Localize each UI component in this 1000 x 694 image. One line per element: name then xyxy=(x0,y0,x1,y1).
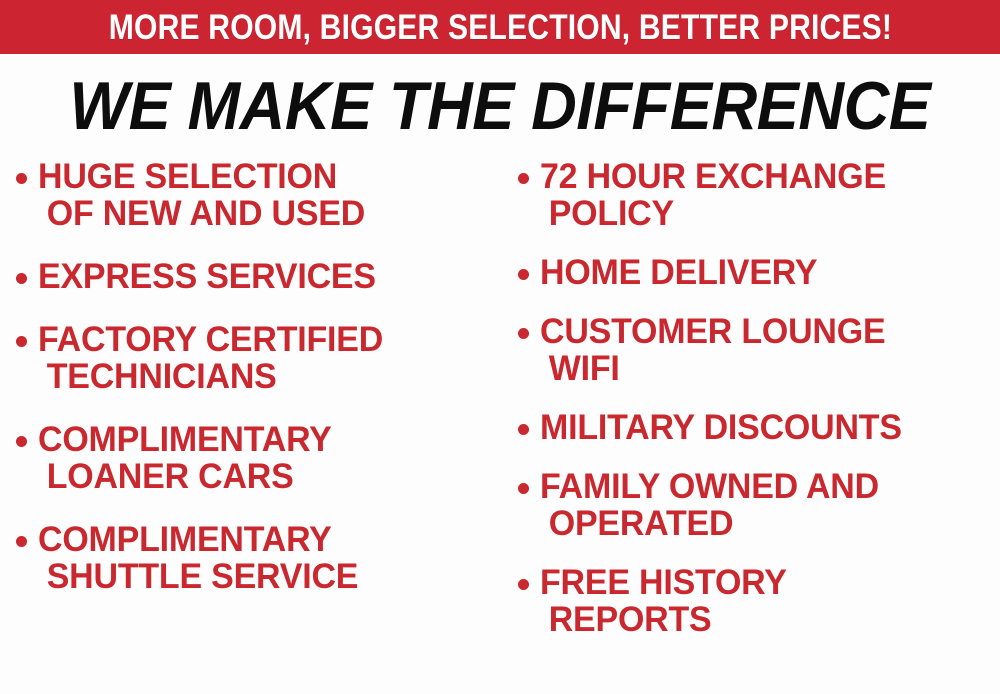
benefit-item: HUGE SELECTIONOF NEW AND USED xyxy=(16,158,496,232)
benefit-label: 72 HOUR EXCHANGEPOLICY xyxy=(540,158,886,232)
benefit-label-line2: REPORTS xyxy=(540,601,787,638)
benefit-item: COMPLIMENTARYLOANER CARS xyxy=(16,421,496,495)
bullet-dot-icon xyxy=(518,579,529,590)
benefit-item: FREE HISTORYREPORTS xyxy=(518,564,1000,638)
bullet-dot-icon xyxy=(518,328,529,339)
headline-area: WE MAKE THE DIFFERENCE xyxy=(0,66,1000,146)
benefit-label-line1: 72 HOUR EXCHANGE xyxy=(540,157,886,196)
benefit-label: COMPLIMENTARYSHUTTLE SERVICE xyxy=(38,521,358,595)
benefit-label: HUGE SELECTIONOF NEW AND USED xyxy=(38,158,365,232)
benefit-label-line1: COMPLIMENTARY xyxy=(38,520,332,559)
benefit-item: COMPLIMENTARYSHUTTLE SERVICE xyxy=(16,521,496,595)
benefit-item: 72 HOUR EXCHANGEPOLICY xyxy=(518,158,1000,232)
benefit-item: FACTORY CERTIFIEDTECHNICIANS xyxy=(16,321,496,395)
benefit-label-line1: FREE HISTORY xyxy=(540,563,787,602)
benefit-label: HOME DELIVERY xyxy=(540,254,817,291)
bullet-dot-icon xyxy=(16,436,27,447)
benefit-label: MILITARY DISCOUNTS xyxy=(540,409,902,446)
benefit-item: FAMILY OWNED ANDOPERATED xyxy=(518,468,1000,542)
page-title: WE MAKE THE DIFFERENCE xyxy=(69,72,930,140)
top-banner: MORE ROOM, BIGGER SELECTION, BETTER PRIC… xyxy=(0,0,1000,54)
benefits-column-left: HUGE SELECTIONOF NEW AND USEDEXPRESS SER… xyxy=(16,158,496,621)
benefit-label-line1: COMPLIMENTARY xyxy=(38,420,332,459)
benefit-label: EXPRESS SERVICES xyxy=(38,258,376,295)
benefit-label-line2: POLICY xyxy=(540,195,886,232)
benefit-label: FAMILY OWNED ANDOPERATED xyxy=(540,468,879,542)
bullet-dot-icon xyxy=(518,269,529,280)
bullet-dot-icon xyxy=(16,173,27,184)
bullet-dot-icon xyxy=(518,483,529,494)
benefit-label-line2: LOANER CARS xyxy=(38,458,332,495)
banner-headline: MORE ROOM, BIGGER SELECTION, BETTER PRIC… xyxy=(108,10,891,45)
bullet-dot-icon xyxy=(16,273,27,284)
bullet-dot-icon xyxy=(16,536,27,547)
benefit-label-line1: CUSTOMER LOUNGE xyxy=(540,312,885,351)
benefit-label: FACTORY CERTIFIEDTECHNICIANS xyxy=(38,321,383,395)
bullet-dot-icon xyxy=(518,424,529,435)
bullet-dot-icon xyxy=(16,336,27,347)
benefit-label: COMPLIMENTARYLOANER CARS xyxy=(38,421,332,495)
benefit-label-line1: HOME DELIVERY xyxy=(540,253,817,292)
benefits-column-right: 72 HOUR EXCHANGEPOLICYHOME DELIVERYCUSTO… xyxy=(518,158,1000,660)
benefit-label-line2: TECHNICIANS xyxy=(38,358,383,395)
benefit-item: HOME DELIVERY xyxy=(518,254,1000,291)
benefit-label-line1: FACTORY CERTIFIED xyxy=(38,320,383,359)
benefit-item: CUSTOMER LOUNGEWIFI xyxy=(518,313,1000,387)
dealership-benefits-poster: MORE ROOM, BIGGER SELECTION, BETTER PRIC… xyxy=(0,0,1000,694)
benefit-label-line1: MILITARY DISCOUNTS xyxy=(540,408,902,447)
bullet-dot-icon xyxy=(518,173,529,184)
benefit-label-line1: FAMILY OWNED AND xyxy=(540,467,879,506)
benefit-label-line2: OF NEW AND USED xyxy=(38,195,365,232)
benefit-label-line2: OPERATED xyxy=(540,505,879,542)
benefit-label: CUSTOMER LOUNGEWIFI xyxy=(540,313,885,387)
benefit-label-line1: EXPRESS SERVICES xyxy=(38,257,376,296)
benefit-label-line1: HUGE SELECTION xyxy=(38,157,337,196)
benefit-item: MILITARY DISCOUNTS xyxy=(518,409,1000,446)
benefit-label-line2: SHUTTLE SERVICE xyxy=(38,558,358,595)
benefits-columns: HUGE SELECTIONOF NEW AND USEDEXPRESS SER… xyxy=(0,158,1000,694)
benefit-label: FREE HISTORYREPORTS xyxy=(540,564,787,638)
benefit-label-line2: WIFI xyxy=(540,350,885,387)
benefit-item: EXPRESS SERVICES xyxy=(16,258,496,295)
